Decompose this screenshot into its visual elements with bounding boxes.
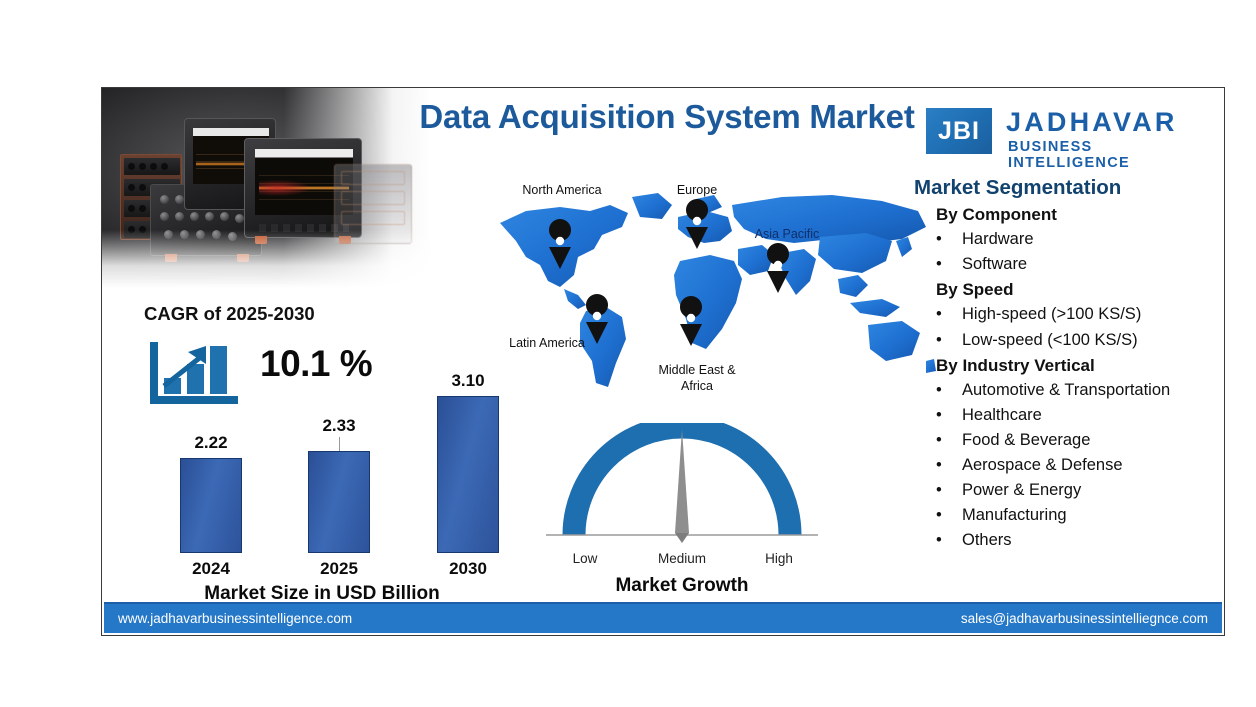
bar-category-2030: 2030: [437, 559, 499, 579]
footer-website[interactable]: www.jadhavarbusinessintelligence.com: [118, 611, 352, 626]
bullet-icon: •: [936, 378, 962, 403]
brand-logo: JBI JADHAVAR BUSINESS INTELLIGENCE: [926, 103, 1211, 163]
segment-group-by-speed: By Speed: [936, 277, 1214, 302]
segment-item-label: High-speed (>100 KS/S): [962, 302, 1141, 327]
cagr-label: CAGR of 2025-2030: [144, 303, 315, 325]
map-label-asia-pacific: Asia Pacific: [732, 227, 842, 243]
bullet-icon: •: [936, 453, 962, 478]
list-item: • Food & Beverage: [936, 428, 1214, 453]
bullet-icon: •: [936, 252, 962, 277]
bar-value-2024: 2.22: [180, 433, 242, 453]
bar-2030: [437, 396, 499, 553]
bullet-icon: •: [936, 528, 962, 553]
list-item: • Hardware: [936, 227, 1214, 252]
list-item: • Manufacturing: [936, 503, 1214, 528]
footer-email[interactable]: sales@jadhavarbusinessintelliegnce.com: [961, 611, 1208, 626]
bullet-icon: •: [936, 403, 962, 428]
market-growth-gauge: Low Medium High Market Growth: [532, 423, 832, 598]
segment-item-label: Software: [962, 252, 1027, 277]
bullet-icon: •: [936, 328, 962, 353]
bullet-icon: •: [936, 428, 962, 453]
bar-value-2025: 2.33: [308, 416, 370, 436]
map-label-latin-america: Latin America: [482, 336, 612, 352]
segment-item-label: Food & Beverage: [962, 428, 1090, 453]
list-item: • Software: [936, 252, 1214, 277]
segment-item-label: Healthcare: [962, 403, 1042, 428]
list-item: • Healthcare: [936, 403, 1214, 428]
map-label-europe: Europe: [647, 183, 747, 199]
segment-item-label: Aerospace & Defense: [962, 453, 1123, 478]
gauge-tick-high: High: [744, 551, 814, 566]
infographic-card: Data Acquisition System Market JBI JADHA…: [101, 87, 1225, 636]
list-item: • High-speed (>100 KS/S): [936, 302, 1214, 327]
list-item: • Power & Energy: [936, 478, 1214, 503]
map-label-middle-east-africa: Middle East & Africa: [637, 363, 757, 394]
segment-item-label: Automotive & Transportation: [962, 378, 1170, 403]
logo-name: JADHAVAR: [1006, 107, 1178, 138]
gauge-tick-low: Low: [550, 551, 620, 566]
segment-item-label: Hardware: [962, 227, 1034, 252]
page-title: Data Acquisition System Market: [402, 98, 932, 136]
list-item: • Automotive & Transportation: [936, 378, 1214, 403]
segment-item-label: Others: [962, 528, 1012, 553]
bar-category-2025: 2025: [308, 559, 370, 579]
bullet-icon: •: [936, 478, 962, 503]
segment-item-label: Low-speed (<100 KS/S): [962, 328, 1138, 353]
map-label-north-america: North America: [492, 183, 632, 199]
market-size-bar-chart: 2.22 2024 2.33 2025 3.10 2030 Market Siz…: [132, 378, 512, 593]
segmentation-title: Market Segmentation: [914, 176, 1214, 200]
list-item: • Others: [936, 528, 1214, 553]
segment-group-by-industry-vertical: By Industry Vertical: [936, 353, 1214, 378]
segment-item-label: Manufacturing: [962, 503, 1067, 528]
logo-mark: JBI: [926, 108, 992, 154]
world-map: North America Europe Asia Pacific Latin …: [482, 183, 942, 398]
logo-tagline: BUSINESS INTELLIGENCE: [1008, 139, 1211, 171]
product-photo: [102, 88, 432, 288]
bullet-icon: •: [936, 503, 962, 528]
gauge-tick-medium: Medium: [645, 551, 719, 566]
bar-2025: [308, 451, 370, 553]
footer-bar: www.jadhavarbusinessintelligence.com sal…: [104, 602, 1222, 633]
map-label-mea-line1: Middle East &: [658, 363, 735, 377]
bullet-icon: •: [936, 227, 962, 252]
gauge-title: Market Growth: [532, 575, 832, 597]
market-segmentation: Market Segmentation By Component • Hardw…: [914, 176, 1214, 553]
bar-2024: [180, 458, 242, 553]
map-label-mea-line2: Africa: [681, 379, 713, 393]
bar-leader-2025: [339, 437, 340, 451]
segment-group-by-component: By Component: [936, 202, 1214, 227]
list-item: • Aerospace & Defense: [936, 453, 1214, 478]
list-item: • Low-speed (<100 KS/S): [936, 328, 1214, 353]
bar-category-2024: 2024: [180, 559, 242, 579]
bullet-icon: •: [936, 302, 962, 327]
segment-item-label: Power & Energy: [962, 478, 1081, 503]
